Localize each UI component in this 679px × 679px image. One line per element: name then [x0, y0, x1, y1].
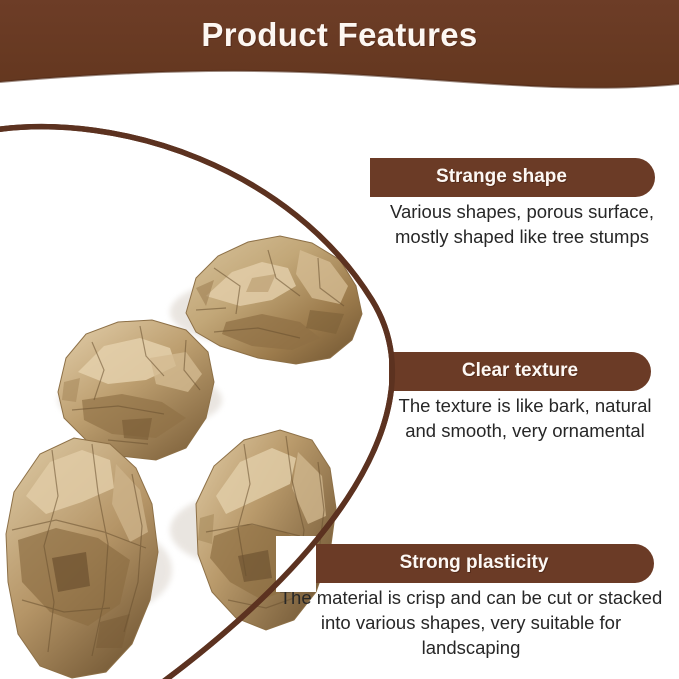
- feature-description-2: The texture is like bark, natural and sm…: [379, 393, 671, 443]
- feature-description-1: Various shapes, porous surface, mostly s…: [372, 199, 672, 249]
- feature-title-pill-2: Clear texture: [389, 352, 651, 391]
- feature-title-1: Strange shape: [436, 166, 567, 188]
- product-features-infographic: Product Features Strange shape Various s…: [0, 0, 679, 679]
- feature-description-3: The material is crisp and can be cut or …: [269, 585, 673, 660]
- feature-title-3: Strong plasticity: [400, 552, 549, 574]
- feature-title-2: Clear texture: [462, 360, 578, 382]
- feature-title-pill-1: Strange shape: [348, 158, 655, 197]
- page-title: Product Features: [0, 16, 679, 54]
- header: Product Features: [0, 0, 679, 100]
- feature-title-pill-3: Strong plasticity: [294, 544, 654, 583]
